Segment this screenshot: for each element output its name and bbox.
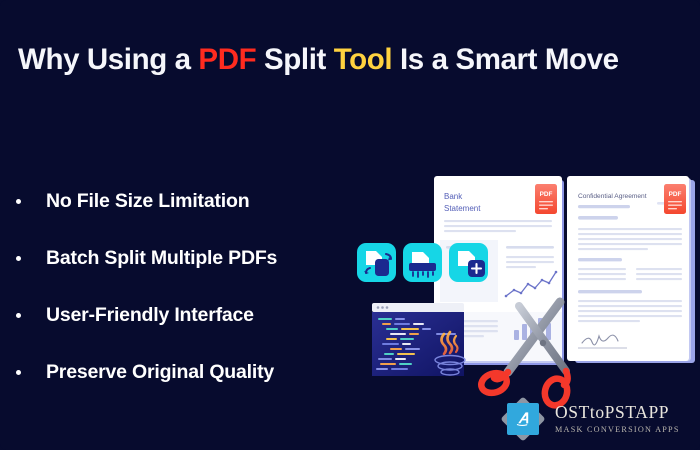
promo-banner: Confidential Agreement — [0, 0, 700, 450]
logo-mark — [500, 396, 546, 442]
line-chart — [505, 271, 558, 298]
java-logo — [435, 332, 465, 375]
headline-part-3: Split — [256, 43, 334, 76]
svg-text:PDF: PDF — [669, 191, 682, 198]
brand-logo[interactable]: OSTtoPSTAPP MASK CONVERSION APPS — [500, 396, 680, 442]
document-confidential-agreement: Confidential Agreement — [567, 176, 695, 363]
headline-part-5: Is a Smart Move — [392, 43, 618, 76]
code-editor-window — [372, 303, 465, 376]
bullet-dot-icon — [16, 370, 21, 375]
bullet-dot-icon — [16, 199, 21, 204]
bullet-dot-icon — [16, 256, 21, 261]
logo-square-shape — [507, 403, 539, 435]
feature-icon-file-shred — [403, 243, 442, 282]
list-item: No File Size Limitation — [14, 190, 374, 213]
logo-text-block: OSTtoPSTAPP MASK CONVERSION APPS — [555, 404, 680, 434]
bar-chart — [514, 318, 551, 340]
feature-list: No File Size Limitation Batch Split Mult… — [14, 190, 374, 384]
scissors-icon — [479, 302, 570, 408]
list-item: User-Friendly Interface — [14, 304, 374, 327]
list-item-label: Batch Split Multiple PDFs — [46, 247, 277, 269]
document-title-confidential: Confidential Agreement — [578, 193, 647, 200]
svg-text:PDF: PDF — [540, 191, 553, 198]
headline-part-tool: Tool — [334, 43, 392, 76]
signature-mark — [578, 335, 627, 348]
headline-part-pdf: PDF — [198, 43, 256, 76]
bullet-dot-icon — [16, 313, 21, 318]
pdf-badge-bank: PDF — [535, 184, 557, 214]
logo-tagline: MASK CONVERSION APPS — [555, 426, 680, 434]
headline-part-1: Why Using a — [18, 43, 198, 76]
page-title: Why Using a PDF Split Tool Is a Smart Mo… — [18, 40, 688, 80]
logo-letter-a-icon — [514, 410, 532, 428]
feature-icon-file-add — [449, 243, 488, 282]
document-title-bank: Bank — [444, 192, 463, 201]
code-lines — [376, 318, 456, 370]
list-item-label: No File Size Limitation — [46, 190, 249, 212]
list-item: Batch Split Multiple PDFs — [14, 247, 374, 270]
list-item-label: User-Friendly Interface — [46, 304, 254, 326]
list-item: Preserve Original Quality — [14, 361, 374, 384]
list-item-label: Preserve Original Quality — [46, 361, 274, 383]
pdf-badge-confidential: PDF — [664, 184, 686, 214]
logo-name: OSTtoPSTAPP — [555, 404, 680, 422]
svg-text:Statement: Statement — [444, 204, 481, 213]
document-bank-statement: Bank Statement — [434, 176, 564, 365]
